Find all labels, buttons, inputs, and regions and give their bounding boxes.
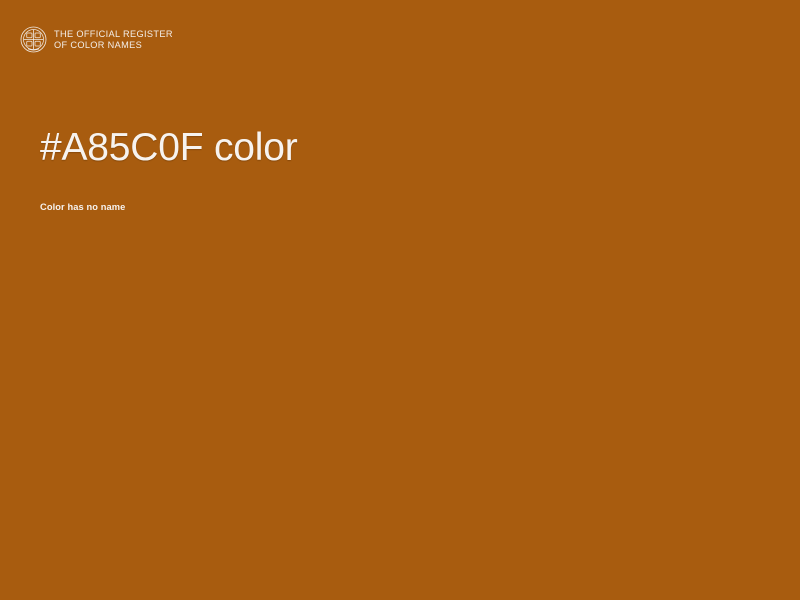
brand-wordmark: THE OFFICIAL REGISTER OF COLOR NAMES bbox=[54, 29, 173, 51]
register-seal-icon bbox=[20, 26, 47, 53]
color-info: #A85C0F color Color has no name bbox=[40, 128, 740, 212]
brand-line-1: THE OFFICIAL REGISTER bbox=[54, 29, 173, 40]
color-page: THE OFFICIAL REGISTER OF COLOR NAMES #A8… bbox=[0, 0, 800, 600]
color-name-status: Color has no name bbox=[40, 169, 740, 212]
brand-line-2: OF COLOR NAMES bbox=[54, 40, 173, 51]
brand-header[interactable]: THE OFFICIAL REGISTER OF COLOR NAMES bbox=[20, 26, 173, 53]
page-title: #A85C0F color bbox=[40, 128, 740, 169]
